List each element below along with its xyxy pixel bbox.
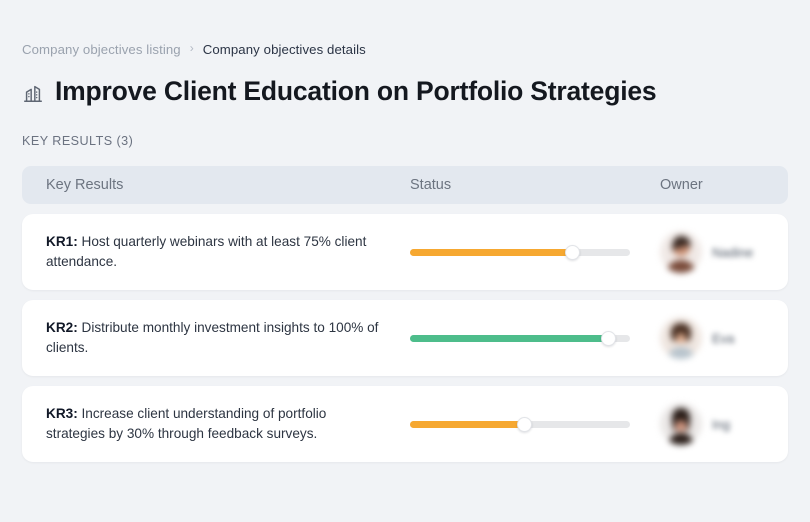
column-header-status: Status [410,177,660,193]
key-result-label: KR1: [46,234,78,249]
progress-slider-thumb[interactable] [601,331,616,346]
owner[interactable]: Ing [660,403,788,445]
column-header-key-results: Key Results [22,177,410,193]
status-cell [410,415,660,433]
key-result-label: KR2: [46,320,78,335]
office-building-icon [22,82,44,104]
avatar [660,231,702,273]
objective-details-page: Company objectives listing › Company obj… [0,36,810,522]
progress-slider[interactable] [410,243,630,261]
owner-name: Nadine [712,245,753,260]
table-row[interactable]: KR3: Increase client understanding of po… [22,386,788,462]
status-cell [410,329,660,347]
key-result-cell: KR2: Distribute monthly investment insig… [22,318,410,359]
key-result-cell: KR3: Increase client understanding of po… [22,404,410,445]
page-title: Improve Client Education on Portfolio St… [55,76,656,106]
key-result-description: KR3: Increase client understanding of po… [46,404,410,445]
breadcrumb: Company objectives listing › Company obj… [22,36,788,62]
breadcrumb-current-details: Company objectives details [203,42,366,57]
progress-slider[interactable] [410,415,630,433]
key-result-description: KR1: Host quarterly webinars with at lea… [46,232,410,273]
key-result-cell: KR1: Host quarterly webinars with at lea… [22,232,410,273]
key-result-text: Distribute monthly investment insights t… [46,320,378,355]
table-row[interactable]: KR2: Distribute monthly investment insig… [22,300,788,376]
owner[interactable]: Eva [660,317,788,359]
table-row[interactable]: KR1: Host quarterly webinars with at lea… [22,214,788,290]
breadcrumb-link-listing[interactable]: Company objectives listing [22,42,181,57]
key-result-text: Host quarterly webinars with at least 75… [46,234,366,269]
progress-slider-fill [410,335,608,342]
owner-cell: Ing [660,403,788,445]
owner-name: Eva [712,331,734,346]
status-cell [410,243,660,261]
owner-cell: Nadine [660,231,788,273]
column-header-owner: Owner [660,177,788,193]
chevron-right-icon: › [190,42,194,54]
table-header-row: Key Results Status Owner [22,166,788,204]
progress-slider-thumb[interactable] [517,417,532,432]
avatar [660,403,702,445]
avatar [660,317,702,359]
progress-slider-fill [410,421,524,428]
progress-slider-thumb[interactable] [565,245,580,260]
page-title-row: Improve Client Education on Portfolio St… [22,76,788,106]
key-results-section-label: KEY RESULTS (3) [22,134,788,148]
owner[interactable]: Nadine [660,231,788,273]
key-result-description: KR2: Distribute monthly investment insig… [46,318,410,359]
owner-cell: Eva [660,317,788,359]
table-body: KR1: Host quarterly webinars with at lea… [22,214,788,462]
key-results-table: Key Results Status Owner KR1: Host quart… [22,166,788,462]
progress-slider-fill [410,249,573,256]
key-result-text: Increase client understanding of portfol… [46,406,326,441]
owner-name: Ing [712,417,730,432]
key-result-label: KR3: [46,406,78,421]
progress-slider[interactable] [410,329,630,347]
